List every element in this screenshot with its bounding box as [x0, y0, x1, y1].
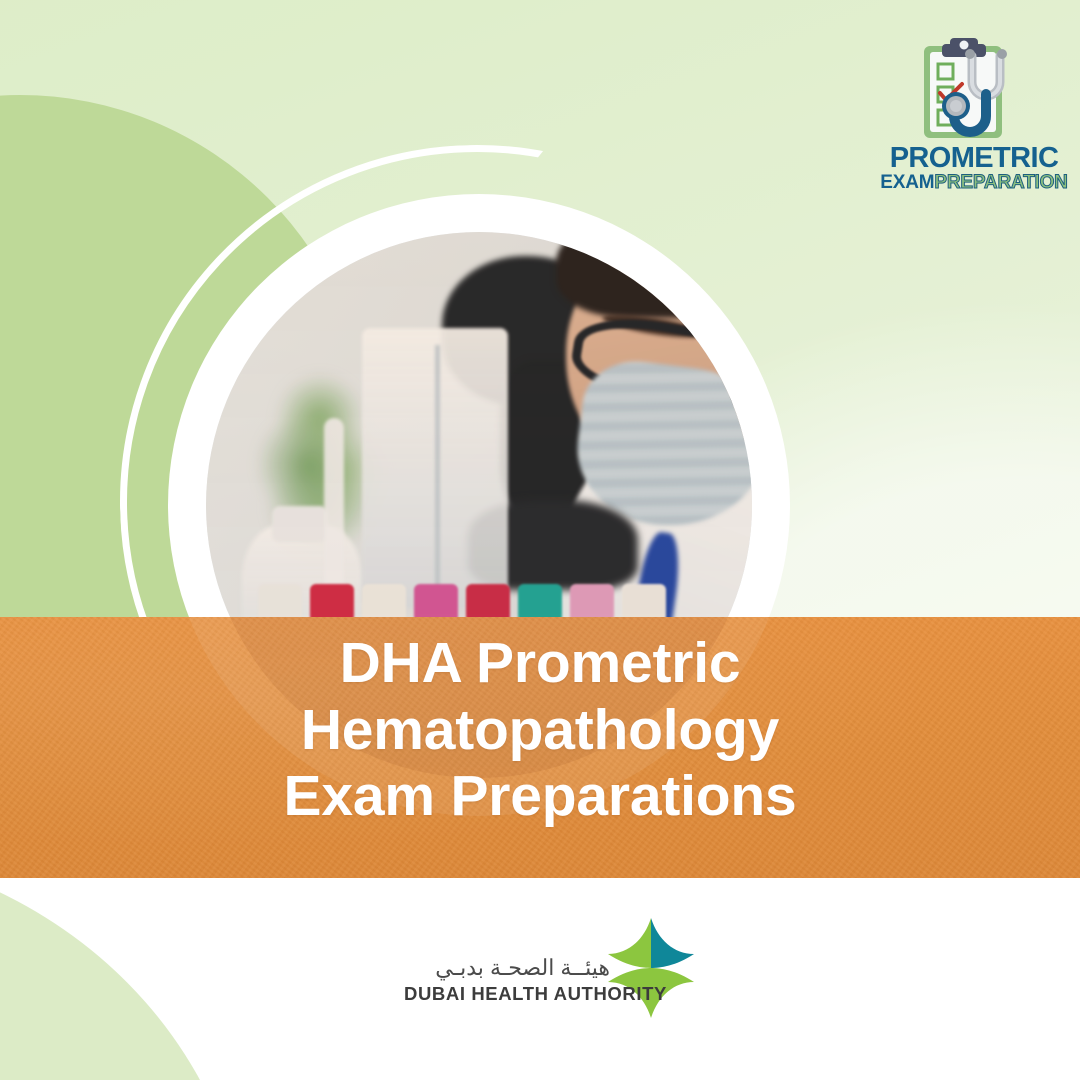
brand-logo-word-bottom: EXAMPREPARATION	[876, 173, 1072, 194]
poster-canvas: DHA Prometric Hematopathology Exam Prepa…	[0, 0, 1080, 1080]
page-title: DHA Prometric Hematopathology Exam Prepa…	[0, 630, 1080, 830]
brand-logo-word-exam: EXAM	[880, 172, 934, 193]
dha-english-name: DUBAI HEALTH AUTHORITY	[404, 982, 610, 1006]
brand-logo-wordmark: PROMETRIC EXAMPREPARATION	[876, 144, 1072, 194]
brand-logo[interactable]: PROMETRIC EXAMPREPARATION	[876, 34, 1072, 194]
dha-wordmark: هيئــة الصحـة بدبـي DUBAI HEALTH AUTHORI…	[404, 956, 610, 1006]
clipboard-stethoscope-icon	[894, 34, 1054, 142]
brand-logo-word-preparation: PREPARATION	[934, 172, 1067, 193]
dubai-health-authority-logo[interactable]: هيئــة الصحـة بدبـي DUBAI HEALTH AUTHORI…	[404, 918, 694, 1018]
page-title-line-2: Hematopathology	[0, 697, 1080, 764]
page-title-line-3: Exam Preparations	[0, 763, 1080, 830]
dha-arabic-name: هيئــة الصحـة بدبـي	[404, 956, 610, 980]
brand-logo-word-top: PROMETRIC	[876, 144, 1072, 173]
page-title-line-1: DHA Prometric	[0, 630, 1080, 697]
